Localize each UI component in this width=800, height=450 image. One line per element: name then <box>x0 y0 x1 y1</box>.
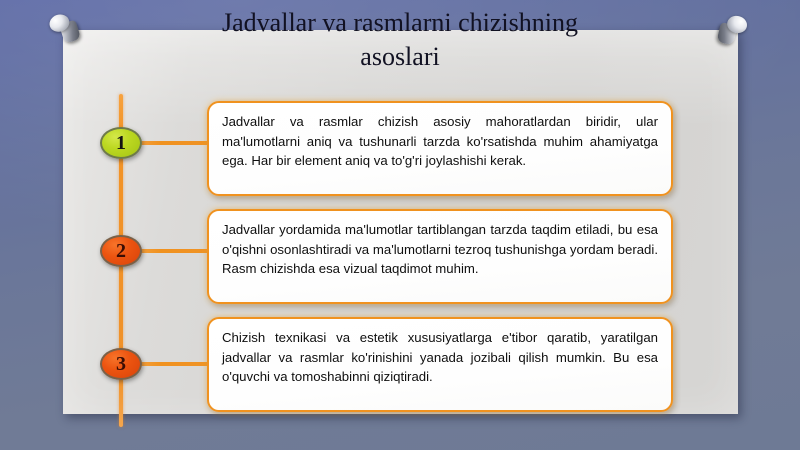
slide-title-line-1: Jadvallar va rasmlarni chizishning <box>155 6 645 40</box>
timeline-text-box-1: Jadvallar va rasmlar chizish asosiy maho… <box>207 101 673 196</box>
timeline-marker-1[interactable]: 1 <box>100 127 142 159</box>
timeline-marker-2-label: 2 <box>116 240 126 263</box>
timeline-text-box-3: Chizish texnikasi va estetik xususiyatla… <box>207 317 673 412</box>
slide-title: Jadvallar va rasmlarni chizishning asosl… <box>155 6 645 74</box>
timeline-text-box-2: Jadvallar yordamida ma'lumotlar tartibla… <box>207 209 673 304</box>
timeline-marker-1-label: 1 <box>116 132 126 155</box>
timeline-marker-3-label: 3 <box>116 353 126 376</box>
timeline-marker-3[interactable]: 3 <box>100 348 142 380</box>
slide-title-line-2: asoslari <box>155 40 645 74</box>
timeline-marker-2[interactable]: 2 <box>100 235 142 267</box>
